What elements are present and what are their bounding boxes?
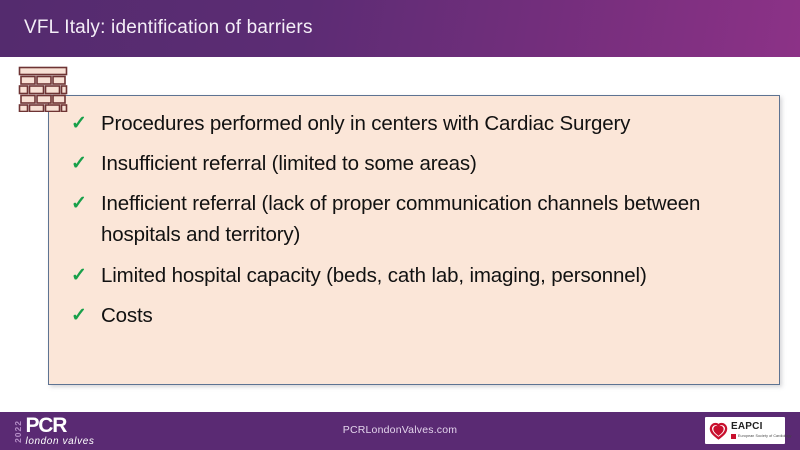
- brick-wall-icon: [18, 66, 68, 112]
- check-icon: ✓: [71, 148, 101, 173]
- list-item: ✓ Procedures performed only in centers w…: [71, 108, 773, 139]
- eapci-name: EAPCI: [731, 422, 792, 432]
- esc-swatch-icon: [731, 434, 736, 439]
- page-title: VFL Italy: identification of barriers: [24, 17, 313, 39]
- heart-icon: [709, 421, 728, 440]
- eapci-subtitle: European Society of Cardiology: [738, 435, 792, 439]
- check-icon: ✓: [71, 300, 101, 325]
- check-icon: ✓: [71, 188, 101, 213]
- barriers-content-box: ✓ Procedures performed only in centers w…: [48, 95, 780, 385]
- list-item-label: Limited hospital capacity (beds, cath la…: [101, 260, 773, 291]
- eapci-subtitle-row: European Society of Cardiology: [731, 434, 792, 439]
- list-item-label: Procedures performed only in centers wit…: [101, 108, 773, 139]
- list-item: ✓ Insufficient referral (limited to some…: [71, 148, 773, 179]
- barriers-bullet-list: ✓ Procedures performed only in centers w…: [71, 108, 773, 340]
- list-item-label: Inefficient referral (lack of proper com…: [101, 188, 773, 250]
- eapci-textblock: EAPCI European Society of Cardiology: [731, 422, 792, 439]
- check-icon: ✓: [71, 260, 101, 285]
- check-icon: ✓: [71, 108, 101, 133]
- list-item-label: Insufficient referral (limited to some a…: [101, 148, 773, 179]
- list-item: ✓ Inefficient referral (lack of proper c…: [71, 188, 773, 250]
- footer-url: PCRLondonValves.com: [0, 424, 800, 436]
- list-item: ✓ Limited hospital capacity (beds, cath …: [71, 260, 773, 291]
- eapci-logo: EAPCI European Society of Cardiology: [705, 417, 785, 444]
- list-item-label: Costs: [101, 300, 773, 331]
- list-item: ✓ Costs: [71, 300, 773, 331]
- pcr-subtitle: london valves: [26, 437, 95, 447]
- slide-header: VFL Italy: identification of barriers: [0, 0, 800, 57]
